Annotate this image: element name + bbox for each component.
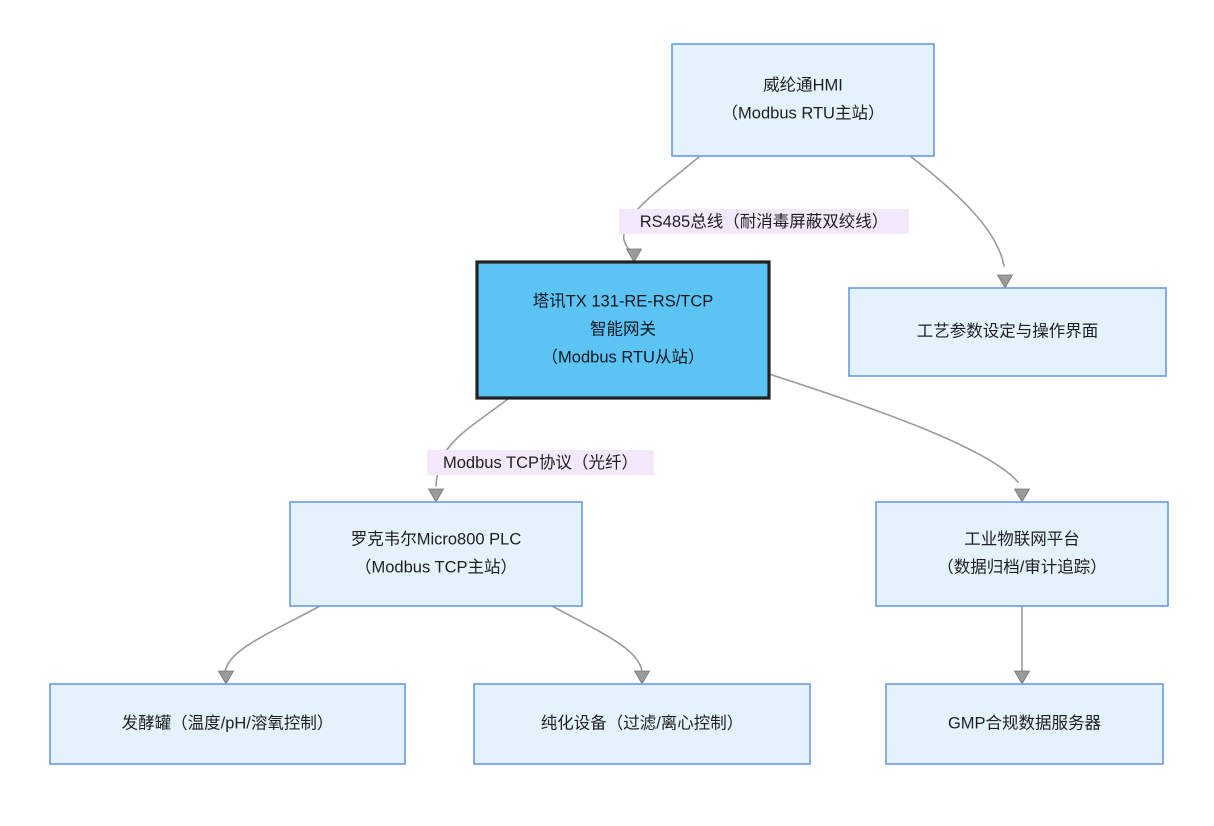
- node-label-line: （Modbus TCP主站）: [355, 557, 517, 576]
- arrow-head-icon: [429, 489, 444, 502]
- node-label-line: 罗克韦尔Micro800 PLC: [351, 529, 522, 548]
- flowchart-diagram: 威纶通HMI（Modbus RTU主站）塔讯TX 131-RE-RS/TCP智能…: [0, 0, 1214, 826]
- edge-hmi-to-operator-ui: [910, 156, 1013, 288]
- edge-plc-to-fermenter: [219, 606, 321, 684]
- edge-line: [769, 374, 1018, 482]
- edge-line: [225, 606, 320, 672]
- node-fermenter[interactable]: 发酵罐（温度/pH/溶氧控制）: [50, 684, 405, 764]
- node-label-line: 塔讯TX 131-RE-RS/TCP: [533, 291, 714, 310]
- node-label-line: 纯化设备（过滤/离心控制）: [541, 713, 744, 732]
- node-operator-ui[interactable]: 工艺参数设定与操作界面: [849, 288, 1166, 376]
- arrow-head-icon: [1015, 671, 1030, 684]
- edge-label-hmi-to-gateway: RS485总线（耐消毒屏蔽双绞线）: [619, 209, 909, 234]
- node-hmi[interactable]: 威纶通HMI（Modbus RTU主站）: [672, 44, 934, 156]
- node-label-line: 威纶通HMI: [763, 75, 843, 94]
- node-label-line: （Modbus RTU从站）: [542, 347, 705, 366]
- nodes-layer: 威纶通HMI（Modbus RTU主站）塔讯TX 131-RE-RS/TCP智能…: [50, 44, 1168, 764]
- node-label-line: GMP合规数据服务器: [948, 713, 1102, 732]
- node-label-line: 工艺参数设定与操作界面: [917, 321, 1099, 340]
- edge-line: [910, 156, 1004, 266]
- node-plc[interactable]: 罗克韦尔Micro800 PLC（Modbus TCP主站）: [290, 502, 582, 606]
- edge-label-text: Modbus TCP协议（光纤）: [443, 453, 638, 472]
- edge-gateway-to-iiot: [769, 374, 1030, 502]
- edge-line: [552, 606, 642, 672]
- edge-line: [624, 156, 700, 256]
- node-box[interactable]: [876, 502, 1168, 606]
- arrow-head-icon: [1015, 489, 1030, 502]
- node-purification[interactable]: 纯化设备（过滤/离心控制）: [474, 684, 810, 764]
- edge-label-gateway-to-plc: Modbus TCP协议（光纤）: [427, 450, 654, 475]
- edge-iiot-to-gmp-server: [1015, 606, 1030, 684]
- node-gateway[interactable]: 塔讯TX 131-RE-RS/TCP智能网关（Modbus RTU从站）: [477, 262, 769, 398]
- node-label-line: 发酵罐（温度/pH/溶氧控制）: [122, 713, 334, 732]
- node-box[interactable]: [672, 44, 934, 156]
- node-label-line: （Modbus RTU主站）: [722, 103, 885, 122]
- node-box[interactable]: [290, 502, 582, 606]
- node-label-line: 工业物联网平台: [964, 529, 1080, 548]
- node-label-line: 智能网关: [590, 319, 656, 338]
- edge-plc-to-purification: [552, 606, 650, 684]
- arrow-head-icon: [627, 249, 642, 262]
- node-gmp-server[interactable]: GMP合规数据服务器: [886, 684, 1163, 764]
- node-iiot[interactable]: 工业物联网平台（数据归档/审计追踪）: [876, 502, 1168, 606]
- edge-label-text: RS485总线（耐消毒屏蔽双绞线）: [640, 212, 888, 231]
- arrow-head-icon: [635, 671, 650, 684]
- node-label-line: （数据归档/审计追踪）: [937, 557, 1107, 576]
- arrow-head-icon: [998, 275, 1013, 288]
- arrow-head-icon: [219, 671, 234, 684]
